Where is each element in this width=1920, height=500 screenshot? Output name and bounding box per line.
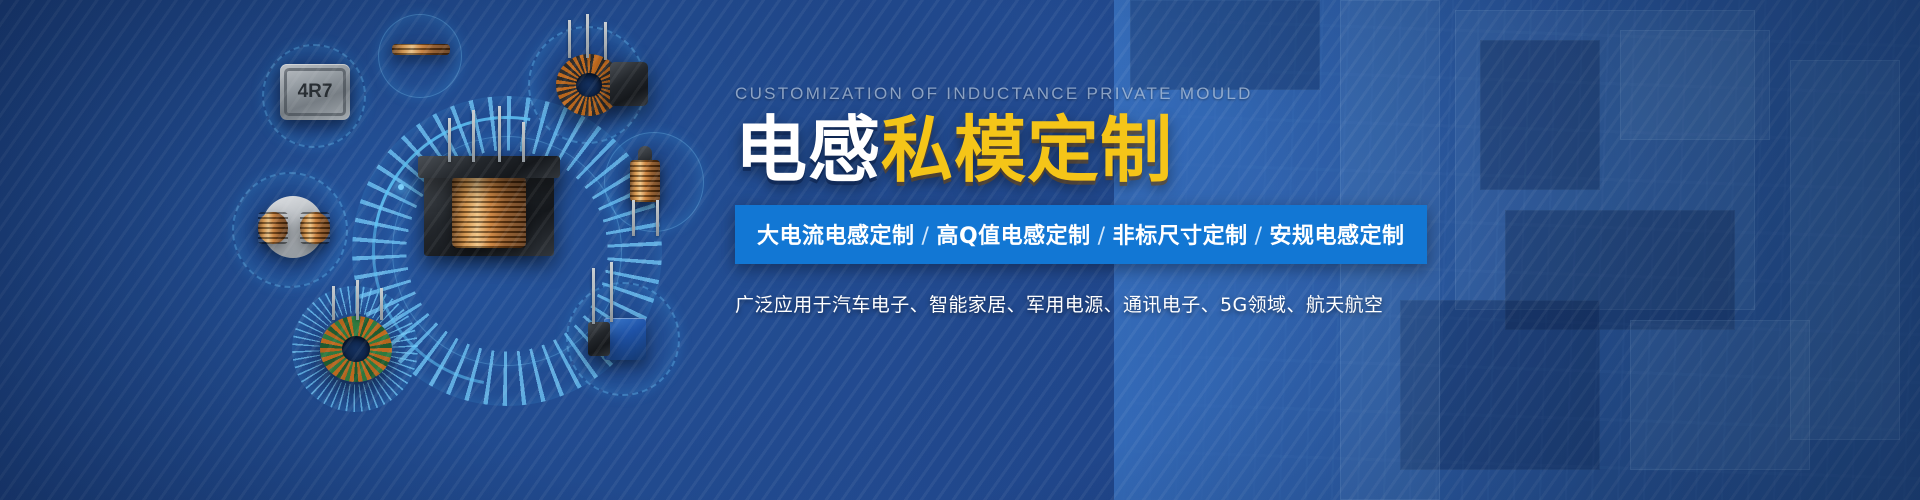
toroid-housing — [610, 62, 648, 106]
feature-ribbon: 大电流电感定制/高Q值电感定制/非标尺寸定制/安规电感定制 — [735, 205, 1427, 264]
green-toroid-lead — [380, 288, 383, 320]
transformer-pin — [522, 122, 525, 162]
wire-wound-coil — [392, 44, 450, 55]
toroid-lead — [586, 14, 589, 58]
feature-item-3: 安规电感定制 — [1270, 224, 1405, 249]
transformer-pin — [498, 106, 501, 162]
filter-pair-winding — [258, 212, 288, 244]
chip-pads — [284, 68, 346, 116]
headline: 电感私模定制 — [735, 114, 1435, 187]
headline-accent: 私模定制 — [881, 108, 1173, 192]
smd-power-inductor-chip: 4R7 — [280, 64, 350, 120]
feature-item-1: 高Q值电感定制 — [936, 224, 1090, 249]
transformer-top-plate — [418, 156, 560, 178]
transformer-pin — [472, 110, 475, 162]
hud-ring-coil-small — [378, 14, 462, 98]
bar-core-winding — [630, 160, 660, 202]
green-toroid-lead — [356, 280, 359, 320]
toroid-lead — [568, 20, 571, 58]
transformer-pin — [448, 118, 451, 162]
blue-cap-lead — [592, 268, 595, 324]
application-fields: 广泛应用于汽车电子、智能家居、军用电源、通讯电子、5G领域、航天航空 — [735, 290, 1435, 317]
feature-separator: / — [915, 224, 937, 249]
transformer-copper-winding — [452, 176, 526, 248]
feature-separator: / — [1248, 224, 1270, 249]
blue-cap-lead — [610, 262, 613, 322]
blue-cap-base — [588, 322, 610, 356]
headline-primary: 电感 — [735, 108, 881, 192]
hero-banner: 4R7 — [0, 0, 1920, 500]
english-tagline: CUSTOMIZATION OF INDUCTANCE PRIVATE MOUL… — [735, 84, 1435, 104]
hud-glow-dot — [398, 184, 404, 190]
feature-separator: / — [1091, 224, 1113, 249]
toroid-lead — [604, 22, 607, 60]
blue-radial-inductor — [604, 318, 646, 360]
bar-core-lead — [632, 200, 635, 236]
banner-copy: CUSTOMIZATION OF INDUCTANCE PRIVATE MOUL… — [735, 84, 1435, 317]
bar-core-lead — [656, 200, 659, 236]
green-toroid-choke — [320, 316, 392, 382]
product-collage: 4R7 — [0, 0, 740, 500]
feature-item-0: 大电流电感定制 — [757, 224, 915, 249]
filter-pair-winding — [300, 212, 330, 244]
feature-item-2: 非标尺寸定制 — [1113, 224, 1248, 249]
green-toroid-lead — [332, 286, 335, 320]
